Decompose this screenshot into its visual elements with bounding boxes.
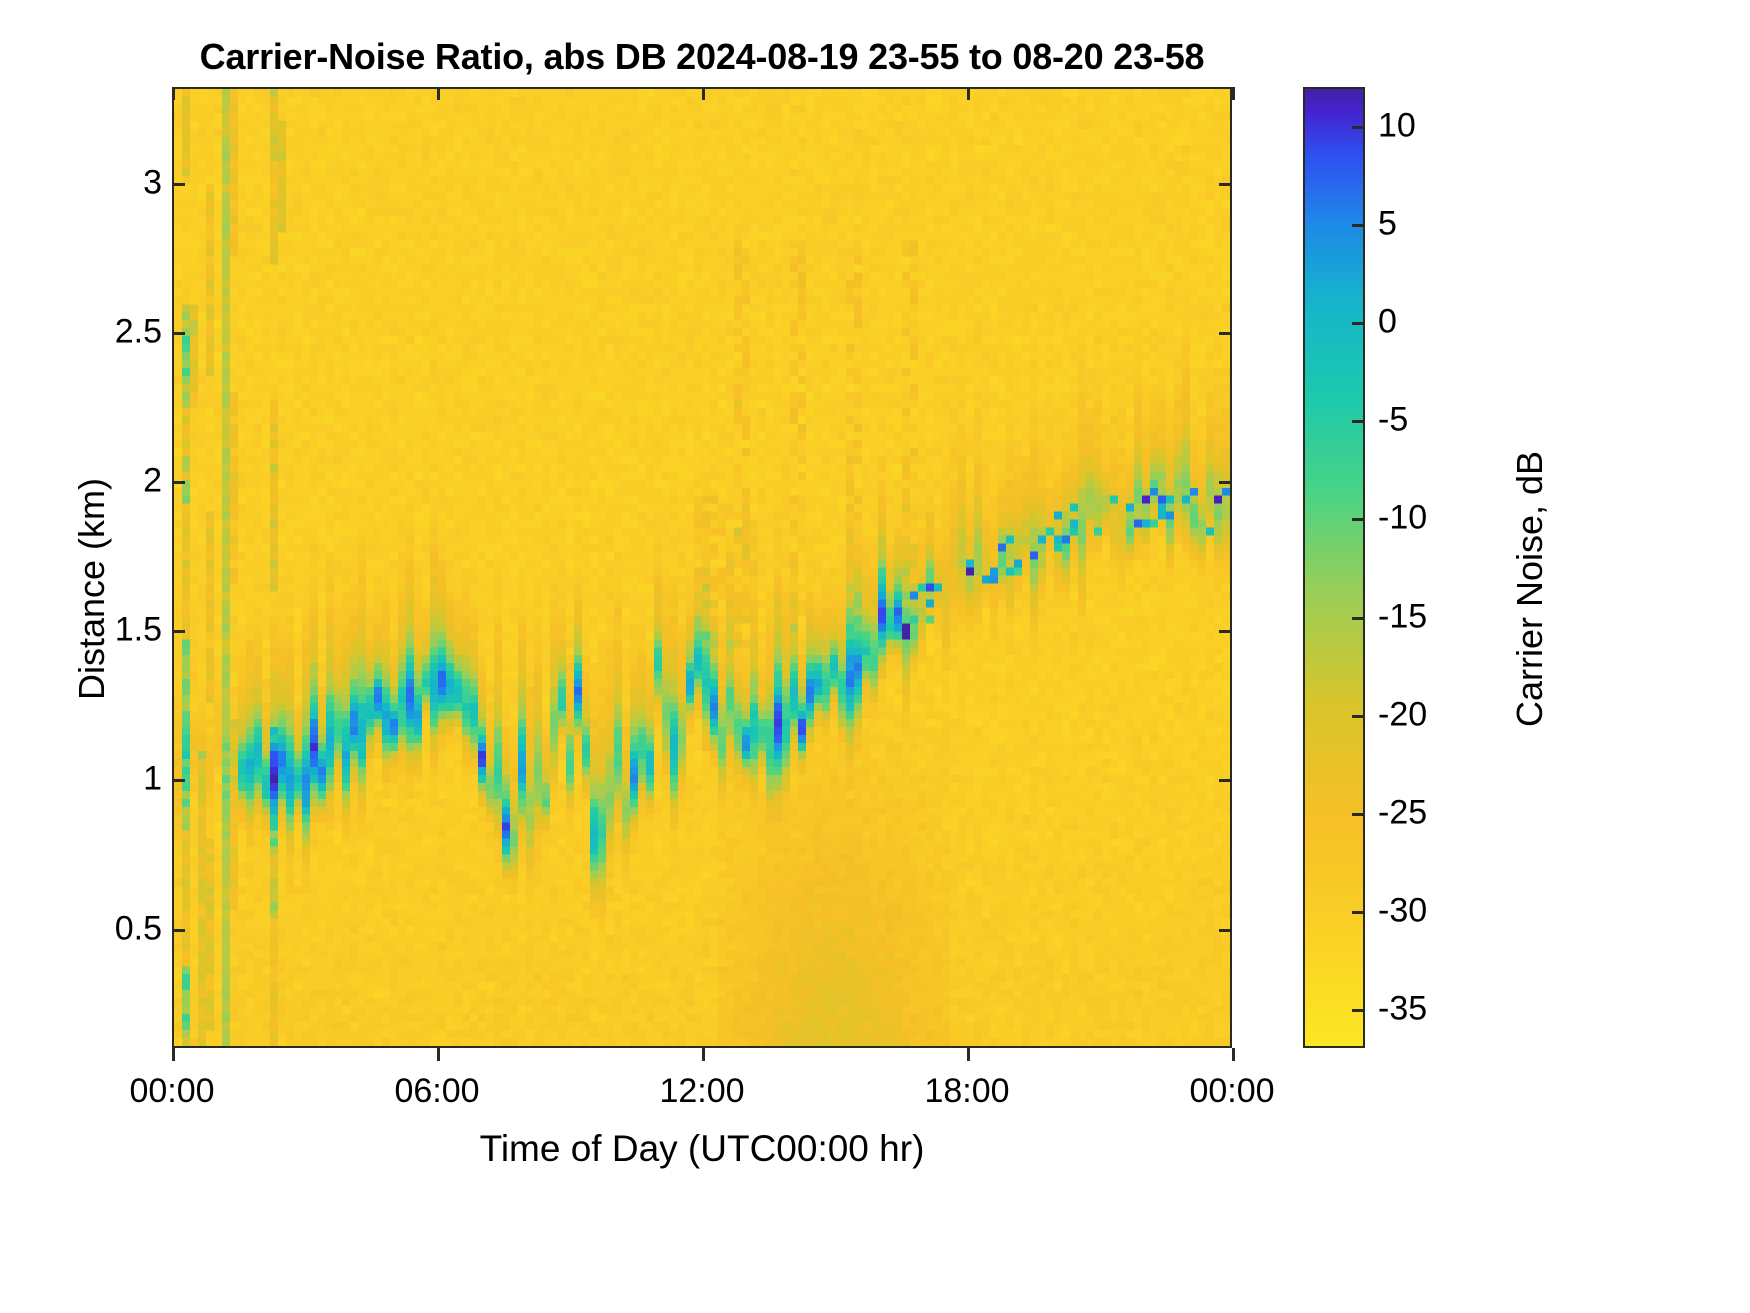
x-tick-label: 12:00	[659, 1072, 744, 1111]
colorbar-tick-mark	[1352, 617, 1365, 620]
y-tick-mark	[172, 929, 185, 932]
colorbar-tick-mark	[1352, 1009, 1365, 1012]
y-tick-mark	[172, 481, 185, 484]
x-tick-mark-top	[437, 87, 440, 100]
x-tick-label: 00:00	[129, 1072, 214, 1111]
colorbar-tick-mark	[1352, 126, 1365, 129]
x-tick-mark	[702, 1048, 705, 1061]
y-axis-label: Distance (km)	[71, 309, 113, 869]
y-tick-mark	[172, 332, 185, 335]
colorbar-tick-label: 0	[1378, 303, 1397, 342]
x-tick-label: 00:00	[1189, 1072, 1274, 1111]
y-tick-mark	[172, 779, 185, 782]
colorbar-tick-mark	[1352, 715, 1365, 718]
y-tick-mark-right	[1219, 183, 1232, 186]
colorbar-tick-label: 10	[1378, 107, 1416, 146]
x-tick-mark	[1232, 1048, 1235, 1061]
colorbar-tick-label: -25	[1378, 793, 1427, 832]
y-tick-label: 2	[143, 461, 162, 500]
y-tick-label: 3	[143, 163, 162, 202]
y-tick-mark-right	[1219, 630, 1232, 633]
y-tick-label: 0.5	[115, 909, 162, 948]
colorbar-tick-mark	[1352, 518, 1365, 521]
x-tick-mark	[437, 1048, 440, 1061]
colorbar-axis-label: Carrier Noise, dB	[1509, 309, 1551, 869]
y-tick-mark-right	[1219, 929, 1232, 932]
x-tick-mark-top	[702, 87, 705, 100]
x-tick-mark	[172, 1048, 175, 1061]
colorbar-tick-mark	[1352, 813, 1365, 816]
y-tick-mark-right	[1219, 779, 1232, 782]
x-tick-mark	[967, 1048, 970, 1061]
x-axis-label: Time of Day (UTC00:00 hr)	[172, 1128, 1232, 1170]
colorbar-tick-label: 5	[1378, 205, 1397, 244]
x-tick-label: 18:00	[924, 1072, 1009, 1111]
colorbar-gradient	[1305, 89, 1363, 1046]
heatmap-image	[174, 89, 1230, 1046]
y-tick-label: 1	[143, 760, 162, 799]
heatmap-axes	[172, 87, 1232, 1048]
colorbar-tick-mark	[1352, 322, 1365, 325]
y-tick-mark-right	[1219, 481, 1232, 484]
y-tick-mark	[172, 183, 185, 186]
figure-canvas: Carrier-Noise Ratio, abs DB 2024-08-19 2…	[0, 0, 1750, 1313]
colorbar-tick-mark	[1352, 224, 1365, 227]
y-tick-label: 1.5	[115, 611, 162, 650]
x-tick-mark-top	[1232, 87, 1235, 100]
colorbar-tick-label: -30	[1378, 891, 1427, 930]
x-tick-mark-top	[172, 87, 175, 100]
y-tick-mark	[172, 630, 185, 633]
colorbar	[1303, 87, 1365, 1048]
colorbar-tick-label: -20	[1378, 695, 1427, 734]
x-tick-label: 06:00	[394, 1072, 479, 1111]
colorbar-tick-label: -35	[1378, 989, 1427, 1028]
colorbar-tick-label: -5	[1378, 401, 1408, 440]
colorbar-tick-mark	[1352, 420, 1365, 423]
colorbar-tick-mark	[1352, 911, 1365, 914]
x-tick-mark-top	[967, 87, 970, 100]
colorbar-tick-label: -15	[1378, 597, 1427, 636]
y-tick-mark-right	[1219, 332, 1232, 335]
y-tick-label: 2.5	[115, 312, 162, 351]
colorbar-tick-label: -10	[1378, 499, 1427, 538]
page-title: Carrier-Noise Ratio, abs DB 2024-08-19 2…	[172, 36, 1232, 78]
